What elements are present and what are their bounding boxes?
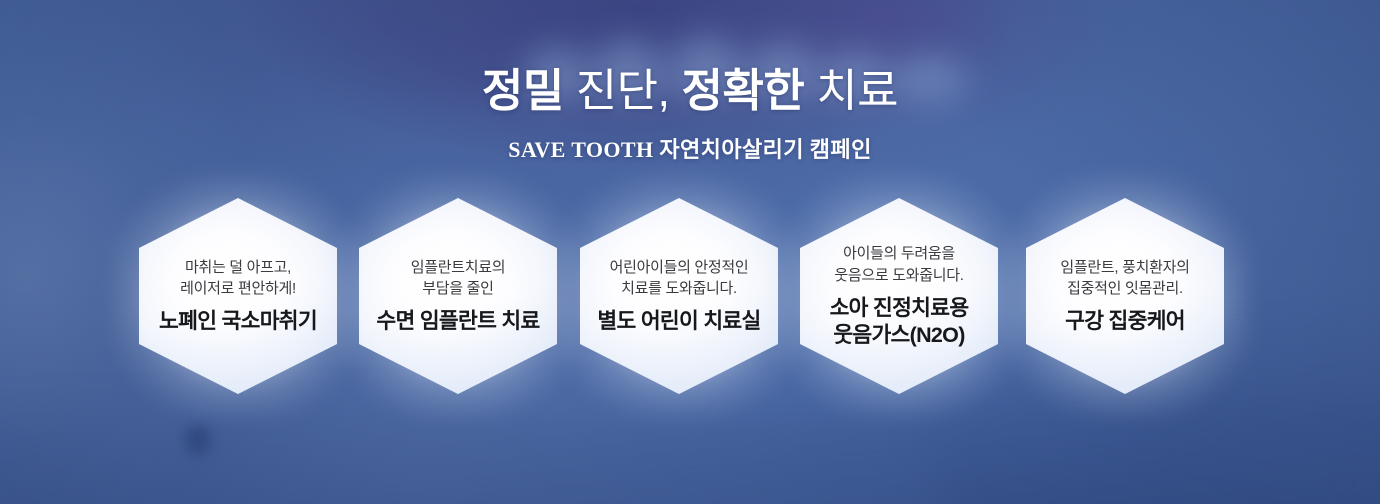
banner-title-light-1: 진단, bbox=[564, 65, 682, 116]
dental-campaign-banner: 정밀 진단, 정확한 치료 SAVE TOOTH 자연치아살리기 캠페인 마취는… bbox=[0, 0, 1380, 504]
hexagon-subtext: 아이들의 두려움을 웃음으로 도와줍니다. bbox=[834, 243, 963, 286]
hexagon-text-block: 임플란트, 풍치환자의 집중적인 잇몸관리. 구강 집중케어 bbox=[1026, 198, 1224, 394]
feature-hexagon-card[interactable]: 임플란트, 풍치환자의 집중적인 잇몸관리. 구강 집중케어 bbox=[1026, 198, 1224, 394]
feature-hexagon-card[interactable]: 어린아이들의 안정적인 치료를 도와줍니다. 별도 어린이 치료실 bbox=[580, 198, 778, 394]
hexagon-text-block: 마취는 덜 아프고, 레이저로 편안하게! 노폐인 국소마취기 bbox=[139, 198, 337, 394]
feature-hexagon-card[interactable]: 마취는 덜 아프고, 레이저로 편안하게! 노폐인 국소마취기 bbox=[139, 198, 337, 394]
hexagon-maintext: 수면 임플란트 치료 bbox=[376, 308, 539, 335]
hexagon-text-block: 임플란트치료의 부담을 줄인 수면 임플란트 치료 bbox=[359, 198, 557, 394]
hexagon-subtext: 임플란트, 풍치환자의 집중적인 잇몸관리. bbox=[1060, 257, 1189, 300]
hexagon-text-block: 아이들의 두려움을 웃음으로 도와줍니다. 소아 진정치료용 웃음가스(N2O) bbox=[800, 198, 998, 394]
hexagon-maintext: 구강 집중케어 bbox=[1065, 308, 1185, 335]
hexagon-maintext: 별도 어린이 치료실 bbox=[597, 308, 760, 335]
banner-subtitle: SAVE TOOTH 자연치아살리기 캠페인 bbox=[0, 132, 1380, 164]
banner-title-light-2: 치료 bbox=[804, 65, 898, 116]
feature-hexagon-card[interactable]: 아이들의 두려움을 웃음으로 도와줍니다. 소아 진정치료용 웃음가스(N2O) bbox=[800, 198, 998, 394]
hexagon-subtext: 마취는 덜 아프고, 레이저로 편안하게! bbox=[180, 257, 296, 300]
feature-hexagon-row: 마취는 덜 아프고, 레이저로 편안하게! 노폐인 국소마취기 임플란트치료의 … bbox=[0, 198, 1380, 394]
feature-hexagon-card[interactable]: 임플란트치료의 부담을 줄인 수면 임플란트 치료 bbox=[359, 198, 557, 394]
banner-heading-group: 정밀 진단, 정확한 치료 SAVE TOOTH 자연치아살리기 캠페인 bbox=[0, 66, 1380, 164]
hexagon-subtext: 어린아이들의 안정적인 치료를 도와줍니다. bbox=[610, 257, 749, 300]
banner-title: 정밀 진단, 정확한 치료 bbox=[0, 66, 1380, 116]
hexagon-subtext: 임플란트치료의 부담을 줄인 bbox=[411, 257, 506, 300]
hexagon-maintext: 소아 진정치료용 웃음가스(N2O) bbox=[830, 295, 969, 349]
banner-title-strong-1: 정밀 bbox=[482, 65, 564, 116]
hexagon-text-block: 어린아이들의 안정적인 치료를 도와줍니다. 별도 어린이 치료실 bbox=[580, 198, 778, 394]
banner-title-strong-2: 정확한 bbox=[682, 65, 805, 116]
background-dark-dot bbox=[185, 425, 211, 455]
hexagon-maintext: 노폐인 국소마취기 bbox=[159, 308, 317, 335]
